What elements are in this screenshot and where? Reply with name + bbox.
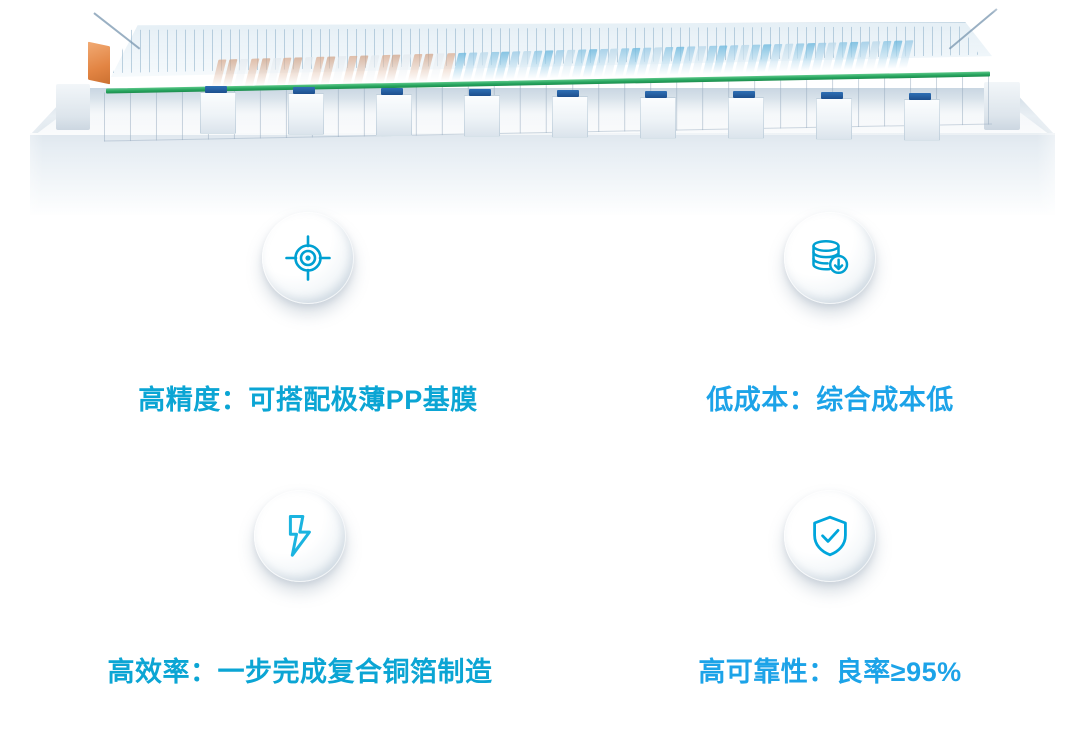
machine-cabinet: [464, 95, 500, 137]
production-line-illustration: [0, 0, 1080, 215]
cabinet-control-box: [293, 87, 315, 94]
feature-grid: 高精度：可搭配极薄PP基膜: [0, 200, 1080, 751]
cabinet-control-box: [205, 86, 227, 93]
machine-cabinet: [376, 94, 412, 136]
shield-check-icon: [784, 490, 876, 582]
feature-card-precision[interactable]: 高精度：可搭配极薄PP基膜: [38, 212, 578, 417]
machine-cabinet: [904, 99, 940, 141]
feature-card-reliability[interactable]: 高可靠性：良率≥95%: [560, 490, 1080, 689]
feature-card-low-cost[interactable]: 低成本：综合成本低: [560, 212, 1080, 417]
machine-cabinet: [288, 93, 324, 135]
machine-cabinet: [640, 97, 676, 139]
feature-icon-badge: [262, 212, 354, 304]
feature-icon-badge: [784, 490, 876, 582]
feature-label-precision: 高精度：可搭配极薄PP基膜: [38, 378, 578, 417]
cabinet-control-box: [821, 92, 843, 99]
cabinet-control-box: [469, 89, 491, 96]
lightning-bolt-icon: [254, 490, 346, 582]
feature-label-low-cost: 低成本：综合成本低: [560, 378, 1080, 417]
database-download-icon: [784, 212, 876, 304]
feature-label-efficiency: 高效率：一步完成复合铜箔制造: [30, 650, 570, 689]
cabinet-control-box: [557, 90, 579, 97]
machine-cabinet: [200, 92, 236, 134]
machine-cabinet: [728, 97, 764, 139]
slide-canvas: 高精度：可搭配极薄PP基膜: [0, 0, 1080, 751]
cabinet-control-box: [645, 91, 667, 98]
feature-label-reliability: 高可靠性：良率≥95%: [560, 650, 1080, 689]
machine-cabinet: [816, 98, 852, 140]
coating-machine: [80, 22, 1010, 130]
machine-cabinet: [552, 96, 588, 138]
feature-icon-badge: [784, 212, 876, 304]
cabinet-control-box: [909, 93, 931, 100]
target-icon: [262, 212, 354, 304]
cabinet-control-box: [381, 88, 403, 95]
cabinet-control-box: [733, 91, 755, 98]
feature-icon-badge: [254, 490, 346, 582]
unwinder-orange-unit: [88, 42, 110, 85]
feature-card-efficiency[interactable]: 高效率：一步完成复合铜箔制造: [30, 490, 570, 689]
